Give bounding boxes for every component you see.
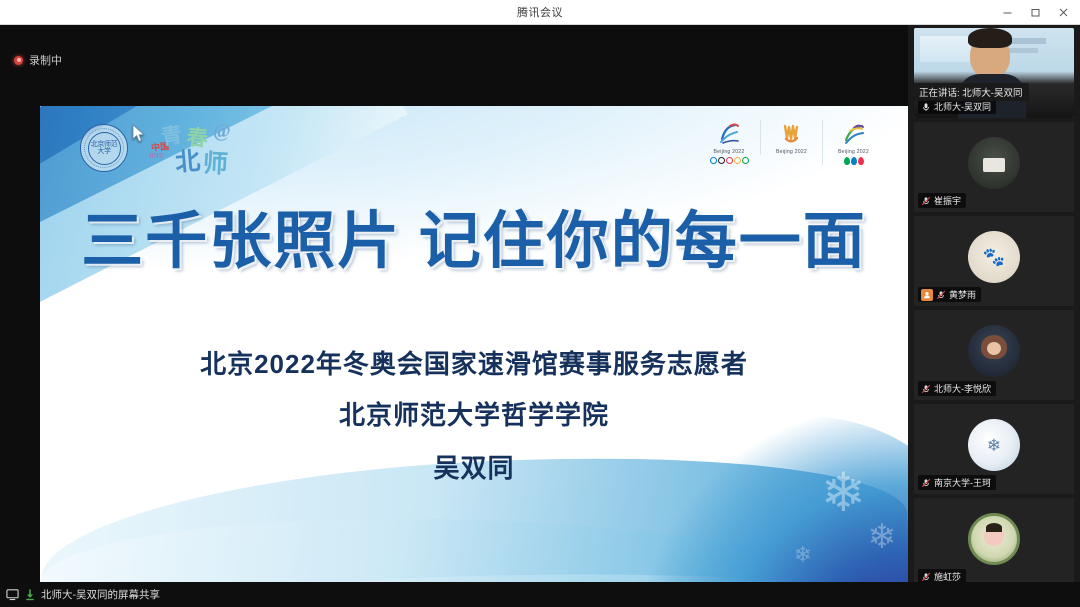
microphone-muted-icon [921,384,931,394]
olympic-emblem-torch: Beijing 2022 [760,120,822,155]
bottom-status-bar: 北师大-吴双同的屏幕共享 [0,582,1080,607]
microphone-muted-icon [936,290,946,300]
participant-tile[interactable]: 北师大-李悦欣 [914,310,1074,400]
speaking-toast-text: 正在讲话: 北师大-吴双同 [919,85,1022,99]
recording-label: 录制中 [29,52,62,68]
campus-slogan: 中国 BNU 青 春 @ 北 师 [145,120,265,172]
mouse-cursor-icon [132,124,145,143]
recording-dot-icon [14,56,23,65]
recording-indicator: 录制中 [14,52,62,68]
participant-name-chip: 崔振宇 [918,193,966,208]
emblem-caption: Beijing 2022 [714,149,745,155]
avatar [968,513,1020,565]
presentation-slide: ❄ ❄ ❄ 北京师范大学 中国 BNU 青 春 @ 北 师 [40,106,908,596]
participant-name: 北师大-吴双同 [934,100,991,113]
slide-title: 三千张照片 记住你的每一面 [40,211,908,273]
microphone-muted-icon [921,572,931,582]
university-seal-logo: 北京师范大学 [80,124,128,172]
avatar [968,137,1020,189]
olympic-rings-icon [710,157,749,164]
participant-tile[interactable]: 北师大-吴双同 正在讲话: 北师大-吴双同 [914,28,1074,118]
agitos-icon [844,157,864,165]
participant-name-chip: 施虹莎 [918,569,966,582]
avatar: ❄ [968,419,1020,471]
minimize-icon[interactable] [994,2,1020,24]
microphone-icon [921,102,931,112]
participant-tile[interactable]: 施虹莎 [914,498,1074,582]
participant-rail[interactable]: 北师大-吴双同 正在讲话: 北师大-吴双同 [908,25,1080,582]
participant-name: 南京大学-王珂 [934,476,991,489]
participant-name-chip: 北师大-吴双同 [918,99,996,114]
maximize-icon[interactable] [1022,2,1048,24]
participant-name-chip: 黄梦雨 [918,287,981,302]
avatar: 🐾 [968,231,1020,283]
participant-name: 黄梦雨 [949,288,976,301]
seal-ring [84,128,124,168]
participant-name: 北师大-李悦欣 [934,382,991,395]
slide-subtitle-1: 北京2022年冬奥会国家速滑馆赛事服务志愿者 [40,344,908,381]
window-controls [994,0,1076,25]
download-arrow-icon [24,588,36,601]
meeting-body: 录制中 ❄ ❄ ❄ 北京师范大学 [0,25,1080,607]
participant-tile[interactable]: 崔振宇 [914,122,1074,212]
olympic-emblem-winter: Beijing 2022 [698,120,760,164]
avatar [968,325,1020,377]
paralympic-emblem-icon [841,120,867,147]
speaking-toast: 正在讲话: 北师大-吴双同 [914,83,1029,101]
olympic-emblem-paralympic: Beijing 2022 [822,120,884,165]
participant-name: 崔振宇 [934,194,961,207]
screen-share-label: 北师大-吴双同的屏幕共享 [41,587,160,602]
slide-subtitle-3: 吴双同 [40,448,908,485]
window-title: 腾讯会议 [517,4,563,20]
emblem-caption: Beijing 2022 [776,149,807,155]
screen-share-icon [6,588,19,601]
participant-name-chip: 北师大-李悦欣 [918,381,996,396]
participant-tile[interactable]: 🐾 黄梦雨 [914,216,1074,306]
microphone-muted-icon [921,196,931,206]
slide-subtitle-2: 北京师范大学哲学学院 [40,395,908,432]
title-bar: 腾讯会议 [0,0,1080,25]
participant-name-chip: 南京大学-王珂 [918,475,996,490]
participant-tile[interactable]: ❄ 南京大学-王珂 [914,404,1074,494]
emblem-caption: Beijing 2022 [838,149,869,155]
microphone-muted-icon [921,478,931,488]
torch-emblem-icon [780,120,804,147]
olympic-emblems: Beijing 2022 Beijing [698,120,884,165]
tencent-meeting-window: 腾讯会议 录制中 [0,0,1080,607]
olympic-winter-emblem-icon [716,120,742,147]
slogan-char: 北 [173,141,201,179]
slogan-char: @ [212,120,231,143]
participant-name: 施虹莎 [934,570,961,582]
screen-share-stage: 录制中 ❄ ❄ ❄ 北京师范大学 [0,25,908,582]
slogan-small-text: BNU [149,152,164,160]
slogan-char: 师 [202,143,229,180]
host-badge-icon [921,289,933,301]
close-icon[interactable] [1050,2,1076,24]
